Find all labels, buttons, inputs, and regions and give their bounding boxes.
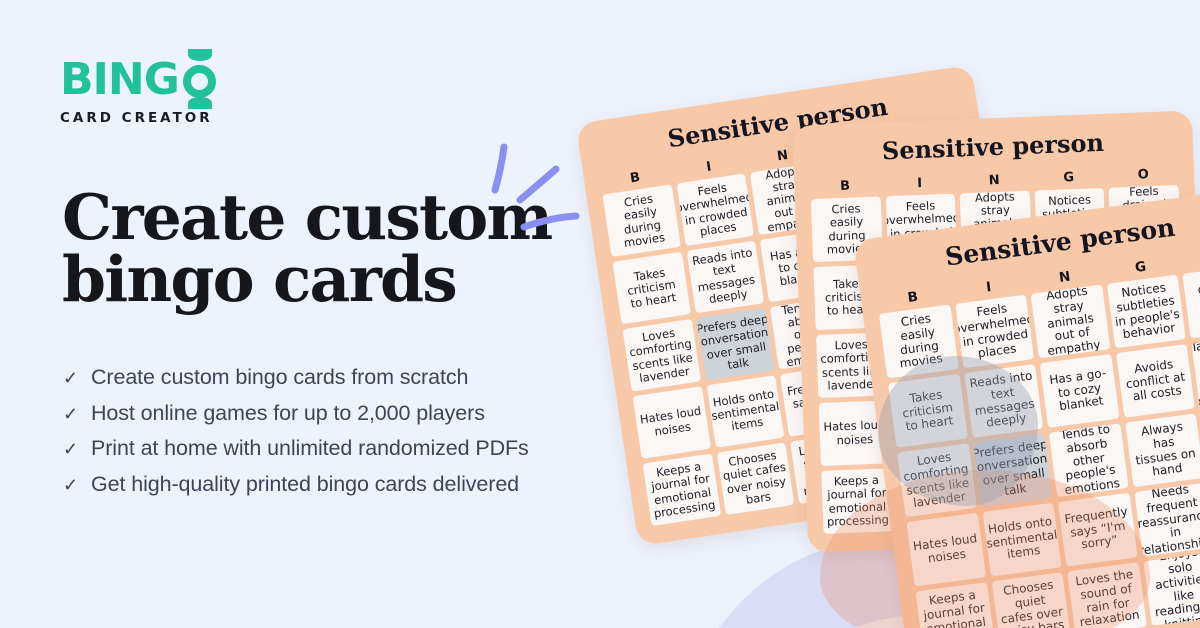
column-header-g: G [1034, 169, 1104, 187]
bingo-cell[interactable]: Feels overwhelmed in crowded places [955, 295, 1034, 369]
hero-banner: B I N G CARD CREATOR Create custom bingo… [0, 0, 1200, 628]
bingo-cell[interactable]: Loves comforting scents like lavender [897, 443, 976, 517]
bingo-cell[interactable]: Feels overwhelmed in crowded places [676, 173, 754, 246]
bingo-cell[interactable]: Holds onto sentimental items [706, 375, 784, 448]
bingo-card-title: Sensitive person [808, 125, 1177, 168]
column-header-i: I [885, 175, 955, 193]
bingo-cell[interactable]: Enjoys solo activities like reading or k… [1143, 552, 1200, 626]
bingo-cell[interactable]: Loves comforting scents like lavender [623, 319, 701, 392]
bingo-cell[interactable]: Keeps a journal for emotional processing [915, 582, 994, 628]
bingo-cards-stack: Sensitive person B I N G O Cries easily … [0, 0, 1200, 628]
bingo-cell[interactable]: Chooses quiet cafes over noisy bars [991, 572, 1070, 628]
column-header-o: O [1180, 245, 1200, 270]
bingo-cell[interactable]: Has a go-to cozy blanket [1040, 354, 1119, 428]
bingo-cell[interactable]: Frequently says “I'm sorry” [1058, 493, 1137, 567]
bingo-cell[interactable]: Notices subtleties in people's behavior [1107, 275, 1186, 349]
bingo-cell[interactable]: Hates loud noises [633, 386, 711, 459]
bingo-cell[interactable]: Reads into text messages deeply [686, 241, 764, 314]
bingo-cell[interactable]: Cries easily during movies [602, 184, 680, 257]
bingo-cell[interactable]: Loves the sound of rain for relaxation [1067, 562, 1146, 628]
bingo-card-front[interactable]: Sensitive person B I N G O Cries easily … [853, 187, 1200, 628]
bingo-cell[interactable]: Hates loud noises [906, 513, 985, 587]
bingo-cell[interactable]: Keeps a journal for emotional processing [821, 468, 893, 534]
bingo-cell[interactable]: Needs frequent reassurance in relationsh… [1134, 483, 1200, 557]
bingo-cell[interactable]: Always has tissues on hand [1125, 413, 1200, 487]
bingo-cell[interactable]: Holds onto sentimental items [982, 503, 1061, 577]
bingo-grid: Cries easily during moviesFeels overwhel… [879, 265, 1200, 628]
bingo-cell[interactable]: Takes criticism to heart [612, 252, 690, 325]
bingo-cell[interactable]: Keeps a journal for emotional processing [643, 453, 721, 526]
bingo-cell[interactable]: Prefers deep conversations over small ta… [696, 308, 774, 381]
bingo-cell[interactable]: Reads into text messages deeply [964, 364, 1043, 438]
column-header-b: B [810, 178, 880, 196]
bingo-cell[interactable]: Takes criticism to heart [888, 374, 967, 448]
bingo-cell[interactable]: Feels drained after social events [1183, 265, 1200, 339]
bingo-cell[interactable]: Cries easily during movies [879, 305, 958, 379]
column-header-n: N [959, 172, 1029, 190]
bingo-cell[interactable]: Adopts stray animals out of empathy [1031, 285, 1110, 359]
bingo-cell[interactable]: Tends to absorb other people's emotions [1049, 423, 1128, 497]
column-header-o: O [1108, 166, 1178, 184]
bingo-cell[interactable]: Chooses quiet cafes over noisy bars [716, 442, 794, 515]
bingo-cell[interactable]: Prefers deep conversations over small ta… [973, 433, 1052, 507]
bingo-cell[interactable]: Avoids conflict at all costs [1116, 344, 1195, 418]
